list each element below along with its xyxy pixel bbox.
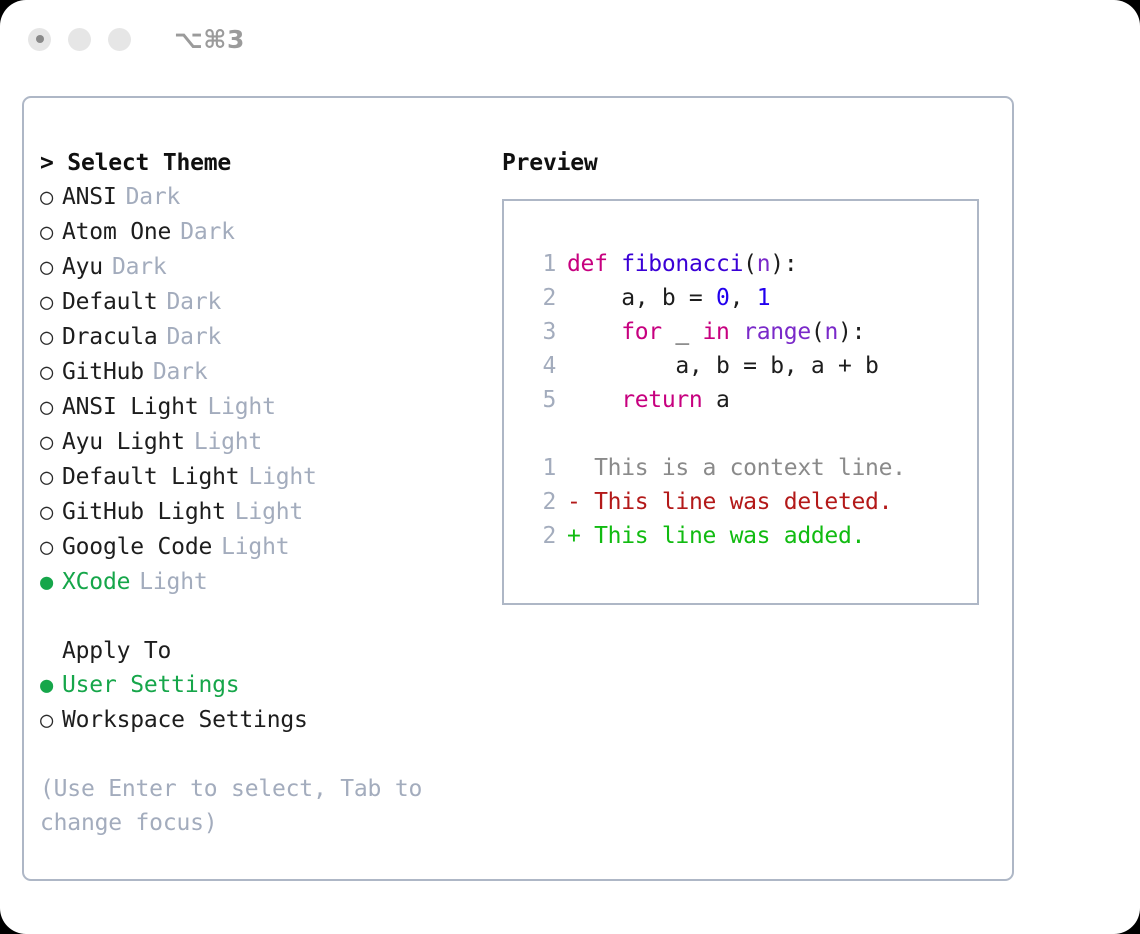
radio-unselected-icon: ○ [40, 391, 62, 425]
theme-option-label: ANSI [62, 180, 117, 214]
code-token: ): [838, 319, 865, 345]
theme-option-ayu-light[interactable]: ○Ayu LightLight [40, 425, 470, 460]
main-panel: > Select Theme ○ANSIDark○Atom OneDark○Ay… [22, 96, 1014, 881]
code-token: for [567, 319, 662, 345]
radio-unselected-icon: ○ [40, 181, 62, 215]
code-token: a [702, 387, 729, 413]
radio-unselected-icon: ○ [40, 426, 62, 460]
radio-unselected-icon: ○ [40, 356, 62, 390]
radio-unselected-icon: ○ [40, 704, 62, 738]
theme-option-label: GitHub Light [62, 495, 226, 529]
apply-to-option-list: ●User Settings○Workspace Settings [40, 668, 470, 738]
code-token: _ [662, 319, 703, 345]
theme-option-ansi-light[interactable]: ○ANSI LightLight [40, 390, 470, 425]
theme-option-google-code[interactable]: ○Google CodeLight [40, 530, 470, 565]
theme-option-category: Dark [112, 250, 167, 284]
theme-option-list: ○ANSIDark○Atom OneDark○AyuDark○DefaultDa… [40, 180, 470, 600]
diff-line-add: 2+ This line was added. [522, 519, 977, 553]
title-bar: ⌥⌘3 [0, 0, 1140, 78]
traffic-light-third[interactable] [108, 28, 131, 51]
theme-option-xcode[interactable]: ●XCodeLight [40, 565, 470, 600]
radio-unselected-icon: ○ [40, 496, 62, 530]
apply-to-option-workspace-settings[interactable]: ○Workspace Settings [40, 703, 470, 738]
theme-option-ansi[interactable]: ○ANSIDark [40, 180, 470, 215]
theme-option-label: Dracula [62, 320, 158, 354]
code-token: ): [770, 251, 797, 277]
theme-option-category: Dark [167, 285, 222, 319]
apply-to-option-user-settings[interactable]: ●User Settings [40, 668, 470, 703]
theme-option-label: XCode [62, 565, 130, 599]
radio-unselected-icon: ○ [40, 461, 62, 495]
preview-box: 1def fibonacci(n):2 a, b = 0, 13 for _ i… [502, 199, 979, 605]
keyboard-hint-text: (Use Enter to select, Tab to change focu… [40, 772, 440, 840]
theme-option-category: Dark [180, 215, 235, 249]
theme-option-category: Dark [153, 355, 208, 389]
theme-option-label: GitHub [62, 355, 144, 389]
theme-option-category: Light [207, 390, 275, 424]
code-token: n [824, 319, 838, 345]
radio-selected-icon: ● [40, 566, 62, 600]
select-theme-header: > Select Theme [40, 146, 470, 180]
code-line-content: a, b = b, a + b [567, 349, 879, 383]
code-token: n [757, 251, 771, 277]
theme-selector-column: > Select Theme ○ANSIDark○Atom OneDark○Ay… [40, 146, 470, 840]
code-line: 3 for _ in range(n): [522, 315, 977, 349]
theme-option-default[interactable]: ○DefaultDark [40, 285, 470, 320]
diff-marker: + [567, 519, 581, 553]
radio-unselected-icon: ○ [40, 321, 62, 355]
theme-option-label: Ayu [62, 250, 103, 284]
theme-option-label: Ayu Light [62, 425, 185, 459]
code-token: 0 [716, 285, 730, 311]
diff-line-number: 2 [522, 485, 556, 519]
theme-option-label: Default Light [62, 460, 239, 494]
code-line: 4 a, b = b, a + b [522, 349, 977, 383]
diff-line-text: This is a context line. [581, 451, 906, 485]
radio-unselected-icon: ○ [40, 251, 62, 285]
code-token: range [743, 319, 811, 345]
code-line-content: return a [567, 383, 730, 417]
apply-to-header: Apply To [40, 634, 470, 668]
code-token: , [730, 285, 757, 311]
radio-unselected-icon: ○ [40, 286, 62, 320]
theme-option-label: ANSI Light [62, 390, 198, 424]
code-line-number: 4 [522, 349, 556, 383]
theme-option-label: Default [62, 285, 158, 319]
code-token: fibonacci [621, 251, 743, 277]
code-token: ( [743, 251, 757, 277]
app-window: ⌥⌘3 > Select Theme ○ANSIDark○Atom OneDar… [0, 0, 1140, 934]
code-line: 5 return a [522, 383, 977, 417]
traffic-light-active[interactable] [28, 28, 51, 51]
traffic-light-active-dot [36, 35, 44, 43]
theme-option-category: Light [139, 565, 207, 599]
diff-line-text: This line was deleted. [581, 485, 893, 519]
theme-option-category: Dark [167, 320, 222, 354]
keyboard-shortcut-label: ⌥⌘3 [174, 25, 245, 54]
code-line-content: a, b = 0, 1 [567, 281, 770, 315]
theme-option-github-light[interactable]: ○GitHub LightLight [40, 495, 470, 530]
theme-option-github[interactable]: ○GitHubDark [40, 355, 470, 390]
radio-selected-icon: ● [40, 669, 62, 703]
radio-unselected-icon: ○ [40, 216, 62, 250]
diff-line-number: 1 [522, 451, 556, 485]
code-line-number: 3 [522, 315, 556, 349]
theme-option-ayu[interactable]: ○AyuDark [40, 250, 470, 285]
code-line: 1def fibonacci(n): [522, 247, 977, 281]
theme-option-default-light[interactable]: ○Default LightLight [40, 460, 470, 495]
code-line-number: 5 [522, 383, 556, 417]
apply-to-option-label: User Settings [62, 668, 239, 702]
apply-to-option-label: Workspace Settings [62, 703, 308, 737]
theme-option-dracula[interactable]: ○DraculaDark [40, 320, 470, 355]
diff-line-ctx: 1 This is a context line. [522, 451, 977, 485]
theme-option-category: Light [221, 530, 289, 564]
theme-option-label: Atom One [62, 215, 171, 249]
code-line: 2 a, b = 0, 1 [522, 281, 977, 315]
code-token: return [567, 387, 702, 413]
code-blank-line [522, 417, 977, 451]
code-preview-block: 1def fibonacci(n):2 a, b = 0, 13 for _ i… [522, 247, 977, 417]
preview-header: Preview [502, 146, 992, 180]
section-spacer [40, 600, 470, 634]
code-line-content: for _ in range(n): [567, 315, 865, 349]
diff-marker [567, 451, 581, 485]
code-line-number: 1 [522, 247, 556, 281]
code-token: a, b = b, a + b [567, 353, 879, 379]
theme-option-label: Google Code [62, 530, 212, 564]
theme-option-category: Light [235, 495, 303, 529]
code-token: 1 [757, 285, 771, 311]
preview-column: Preview 1def fibonacci(n):2 a, b = 0, 13… [502, 146, 992, 605]
radio-unselected-icon: ○ [40, 531, 62, 565]
theme-option-category: Dark [126, 180, 181, 214]
theme-option-category: Light [194, 425, 262, 459]
theme-option-atom-one[interactable]: ○Atom OneDark [40, 215, 470, 250]
diff-preview-block: 1 This is a context line.2- This line wa… [522, 451, 977, 553]
diff-marker: - [567, 485, 581, 519]
code-line-content: def fibonacci(n): [567, 247, 797, 281]
code-token: def [567, 251, 621, 277]
code-token: a, b = [567, 285, 716, 311]
traffic-light-second[interactable] [68, 28, 91, 51]
diff-line-del: 2- This line was deleted. [522, 485, 977, 519]
code-token: in [703, 319, 744, 345]
code-line-number: 2 [522, 281, 556, 315]
code-token: ( [811, 319, 825, 345]
diff-line-text: This line was added. [581, 519, 866, 553]
theme-option-category: Light [248, 460, 316, 494]
diff-line-number: 2 [522, 519, 556, 553]
